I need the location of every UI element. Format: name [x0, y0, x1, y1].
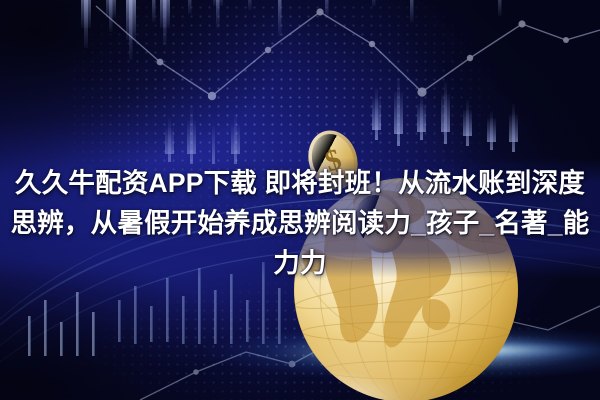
banner-headline: 久久牛配资APP下载 即将封班！从流水账到深度思辨，从暑假开始养成思辨阅读力_孩…: [0, 163, 600, 283]
banner-image: $ $ 久久牛配资APP下载 即将封班！从流水账到深度思辨，从暑假开始养成思辨阅…: [0, 0, 600, 400]
